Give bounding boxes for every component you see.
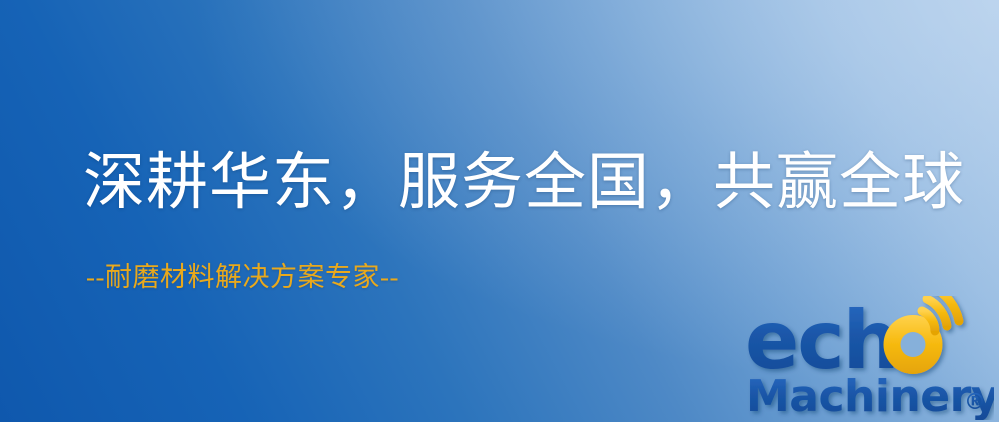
- banner-subtitle: --耐磨材料解决方案专家--: [86, 264, 399, 291]
- logo-subbrand-glyphs: Machinery ®: [746, 371, 994, 420]
- banner-content: 深耕华东，服务全国，共赢全球 --耐磨材料解决方案专家-- echo Machi…: [0, 0, 999, 422]
- echo-machinery-logo[interactable]: echo Machinery ®: [742, 296, 994, 420]
- banner-headline: 深耕华东，服务全国，共赢全球: [83, 152, 965, 214]
- logo-subbrand-label: Machinery: [746, 371, 994, 420]
- logo-registered-mark: ®: [964, 390, 986, 415]
- logo-graphic: ech Machinery ®: [742, 296, 994, 420]
- promo-banner: 深耕华东，服务全国，共赢全球 --耐磨材料解决方案专家-- echo Machi…: [0, 0, 999, 422]
